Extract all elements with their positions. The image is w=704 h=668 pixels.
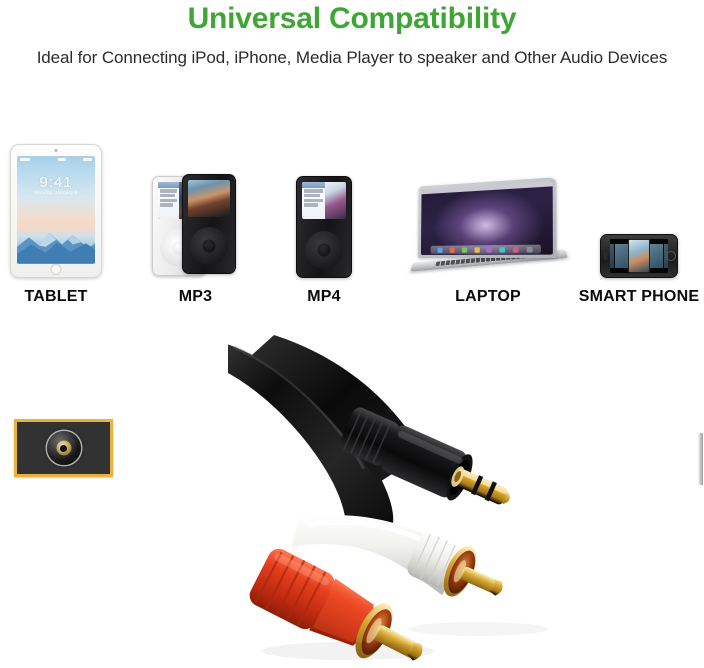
page-title: Universal Compatibility [0, 2, 704, 36]
ipad-lockscreen-time: 9:41 [17, 174, 95, 191]
iphone-home-button-icon [666, 251, 676, 261]
device-label-laptop: LAPTOP [455, 288, 521, 306]
ipad-camera-icon [55, 149, 58, 152]
device-label-mp4: MP4 [307, 288, 341, 306]
ipad-lockscreen-date: Monday, January 5 [17, 190, 95, 195]
device-item-smart-phone: SMART PHONE [576, 125, 702, 310]
compatible-devices-strip: 9:41 Monday, January 5 TABLET [0, 125, 704, 310]
audio-jack-port-swatch [14, 419, 113, 477]
device-item-mp3: MP3 [148, 125, 243, 310]
device-item-mp4: MP4 [282, 125, 366, 310]
macos-dock [430, 245, 541, 254]
product-photo-audio-cable [228, 333, 704, 668]
device-label-smart-phone: SMART PHONE [579, 288, 699, 306]
device-item-laptop: LAPTOP [408, 125, 568, 310]
jack-port-ring-icon [47, 431, 81, 465]
ipad-wallpaper-mountains [17, 216, 95, 264]
jack-port-hole-icon [56, 441, 71, 456]
macos-menubar [422, 181, 553, 195]
ipod-click-wheel-icon [190, 227, 228, 265]
page-subtitle: Ideal for Connecting iPod, iPhone, Media… [0, 48, 704, 68]
device-item-tablet: 9:41 Monday, January 5 TABLET [10, 125, 102, 310]
iphone-coverflow-screen [610, 239, 668, 273]
right-edge-artifact [698, 433, 703, 485]
iphone-speaker-icon [604, 252, 607, 260]
iphone-landscape-icon [600, 234, 678, 278]
ipod-classic-black-icon [296, 176, 352, 278]
ipad-status-bar [20, 157, 92, 162]
ipod-classic-pair-icon [152, 174, 240, 278]
tablet-ipad-icon: 9:41 Monday, January 5 [10, 144, 102, 278]
device-label-tablet: TABLET [24, 288, 87, 306]
device-label-mp3: MP3 [179, 288, 213, 306]
macbook-pro-icon [412, 186, 564, 278]
ipad-home-button-icon [51, 264, 62, 275]
ipod-click-wheel-icon [305, 231, 343, 269]
